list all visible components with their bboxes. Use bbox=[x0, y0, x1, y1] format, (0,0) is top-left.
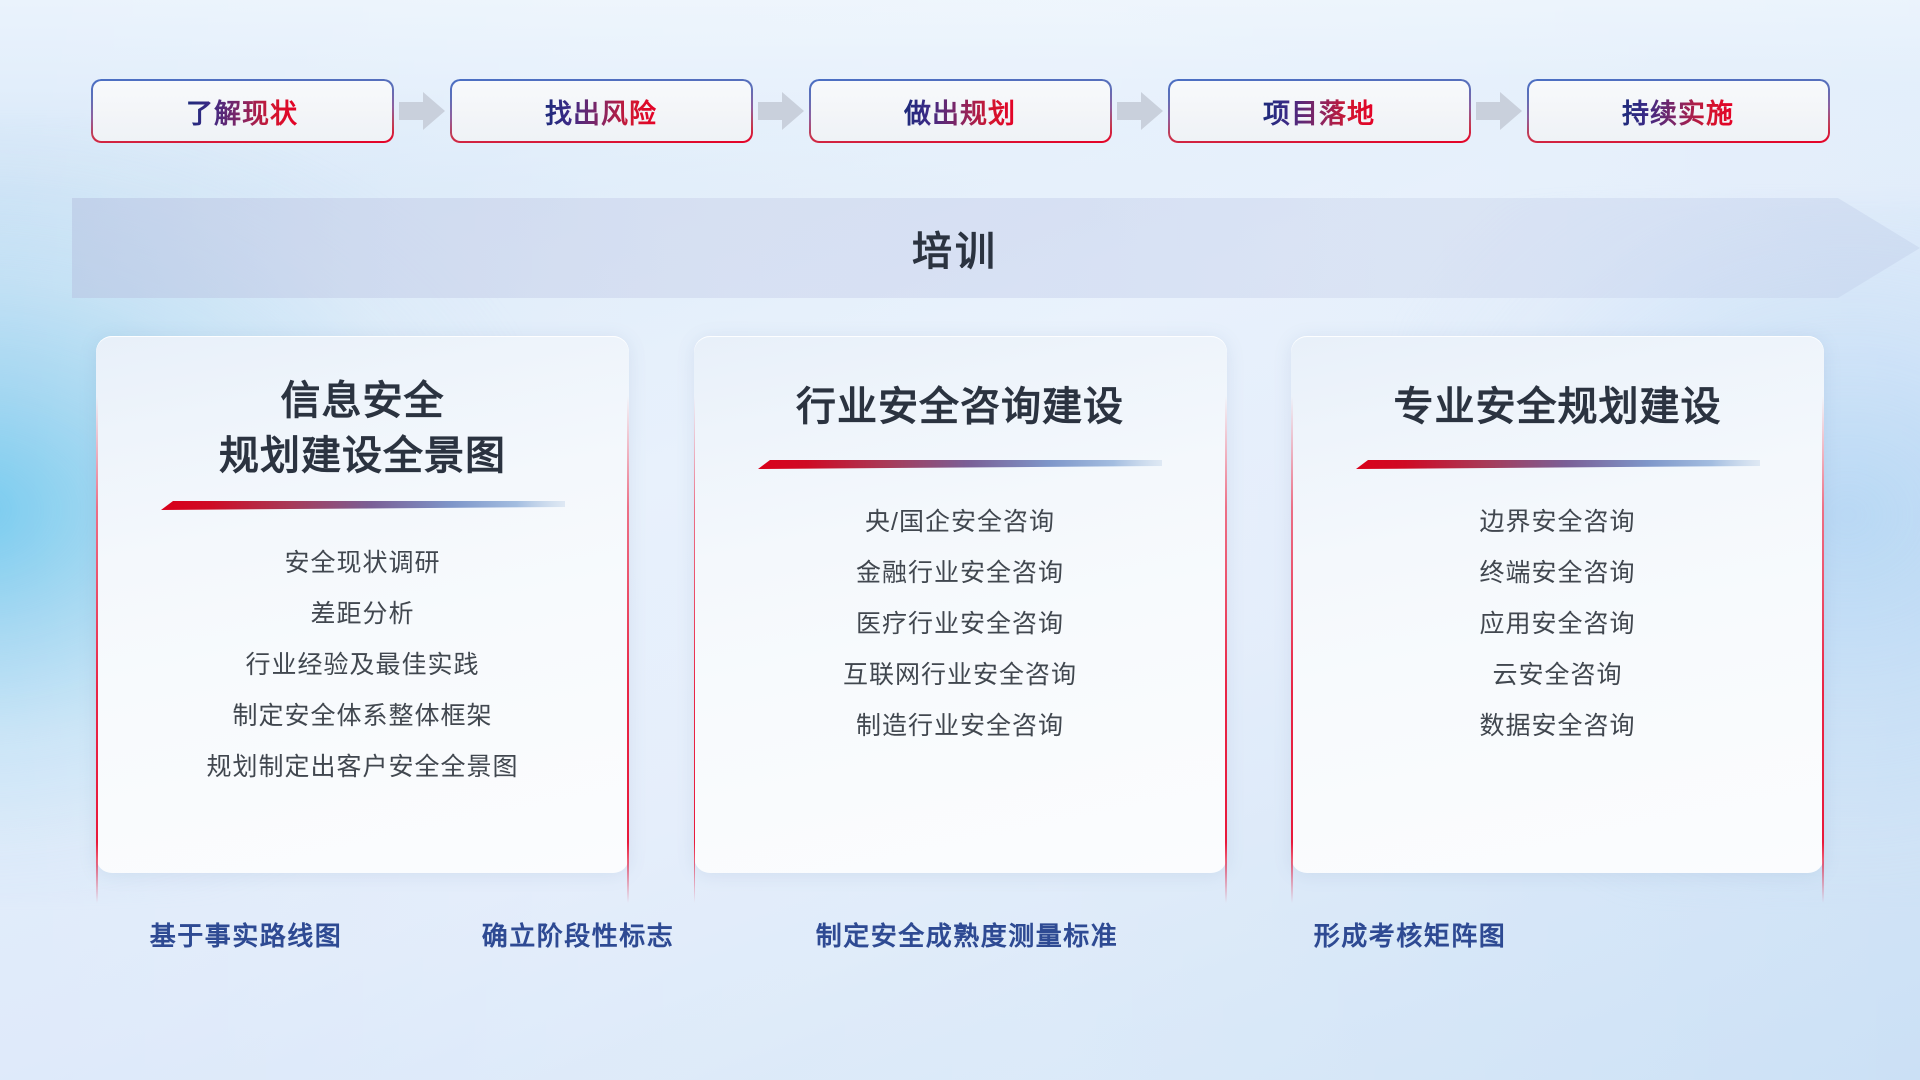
card-item-list: 边界安全咨询 终端安全咨询 应用安全咨询 云安全咨询 数据安全咨询 bbox=[1291, 501, 1824, 747]
chevron-right-arrow-icon bbox=[1471, 88, 1527, 134]
step-label: 持续实施 bbox=[1622, 92, 1734, 131]
chevron-right-arrow-icon bbox=[753, 88, 809, 134]
list-item: 医疗行业安全咨询 bbox=[856, 603, 1064, 645]
card-rail-right bbox=[1225, 396, 1227, 903]
list-item: 行业经验及最佳实践 bbox=[245, 644, 479, 686]
bottom-label-1: 基于事实路线图 bbox=[150, 916, 343, 953]
step-box-4[interactable]: 项目落地 bbox=[1168, 79, 1471, 143]
card-industry-security-consulting[interactable]: 行业安全咨询建设 央/国企安全咨询 bbox=[694, 336, 1227, 873]
bottom-label-3: 制定安全成熟度测量标准 bbox=[816, 916, 1119, 953]
list-item: 云安全咨询 bbox=[1492, 654, 1622, 696]
tapered-gradient-divider-icon bbox=[758, 457, 1162, 473]
card-title-line: 专业安全规划建设 bbox=[1394, 380, 1722, 435]
step-label: 做出规划 bbox=[904, 92, 1016, 131]
step-label: 项目落地 bbox=[1263, 92, 1375, 131]
list-item: 数据安全咨询 bbox=[1479, 705, 1635, 747]
list-item: 边界安全咨询 bbox=[1479, 501, 1635, 543]
card-rail-right bbox=[627, 396, 629, 903]
list-item: 央/国企安全咨询 bbox=[865, 501, 1055, 543]
card-item-list: 安全现状调研 差距分析 行业经验及最佳实践 制定安全体系整体框架 规划制定出客户… bbox=[96, 542, 629, 788]
card-title-line: 规划建设全景图 bbox=[219, 429, 506, 484]
step-box-1[interactable]: 了解现状 bbox=[91, 79, 394, 143]
step-box-2[interactable]: 找出风险 bbox=[450, 79, 753, 143]
card-title: 信息安全 规划建设全景图 bbox=[195, 374, 530, 484]
list-item: 互联网行业安全咨询 bbox=[843, 654, 1077, 696]
list-item: 差距分析 bbox=[310, 593, 414, 635]
list-item: 制定安全体系整体框架 bbox=[232, 695, 492, 737]
list-item: 金融行业安全咨询 bbox=[856, 552, 1064, 594]
training-banner: 培训 bbox=[0, 198, 1920, 298]
chevron-right-arrow-icon bbox=[394, 88, 450, 134]
list-item: 规划制定出客户安全全景图 bbox=[206, 746, 518, 788]
step-box-5[interactable]: 持续实施 bbox=[1527, 79, 1830, 143]
card-rail-right bbox=[1822, 396, 1824, 903]
list-item: 制造行业安全咨询 bbox=[856, 705, 1064, 747]
bottom-label-row: 基于事实路线图 确立阶段性标志 制定安全成熟度测量标准 形成考核矩阵图 bbox=[0, 916, 1920, 960]
card-item-list: 央/国企安全咨询 金融行业安全咨询 医疗行业安全咨询 互联网行业安全咨询 制造行… bbox=[694, 501, 1227, 747]
list-item: 安全现状调研 bbox=[284, 542, 440, 584]
card-professional-security-planning[interactable]: 专业安全规划建设 边界安全咨询 bbox=[1291, 336, 1824, 873]
bottom-label-4: 形成考核矩阵图 bbox=[1314, 916, 1507, 953]
step-label: 了解现状 bbox=[186, 92, 298, 131]
step-label: 找出风险 bbox=[545, 92, 657, 131]
card-rail-left bbox=[1291, 396, 1293, 903]
card-title: 行业安全咨询建设 bbox=[772, 380, 1148, 435]
card-row: 信息安全 规划建设全景图 bbox=[96, 336, 1824, 873]
list-item: 应用安全咨询 bbox=[1479, 603, 1635, 645]
process-step-flow: 了解现状 找出风险 做出规划 项目落地 持续实施 bbox=[0, 78, 1920, 144]
chevron-right-arrow-icon bbox=[1112, 88, 1168, 134]
card-rail-left bbox=[694, 396, 696, 903]
card-information-security-blueprint[interactable]: 信息安全 规划建设全景图 bbox=[96, 336, 629, 873]
banner-title: 培训 bbox=[0, 198, 1920, 298]
step-box-3[interactable]: 做出规划 bbox=[809, 79, 1112, 143]
tapered-gradient-divider-icon bbox=[1356, 457, 1760, 473]
tapered-gradient-divider-icon bbox=[161, 498, 565, 514]
card-rail-left bbox=[96, 396, 98, 903]
card-title-line: 信息安全 bbox=[219, 374, 506, 429]
list-item: 终端安全咨询 bbox=[1479, 552, 1635, 594]
card-title: 专业安全规划建设 bbox=[1370, 380, 1746, 435]
card-title-line: 行业安全咨询建设 bbox=[796, 380, 1124, 435]
bottom-label-2: 确立阶段性标志 bbox=[482, 916, 675, 953]
